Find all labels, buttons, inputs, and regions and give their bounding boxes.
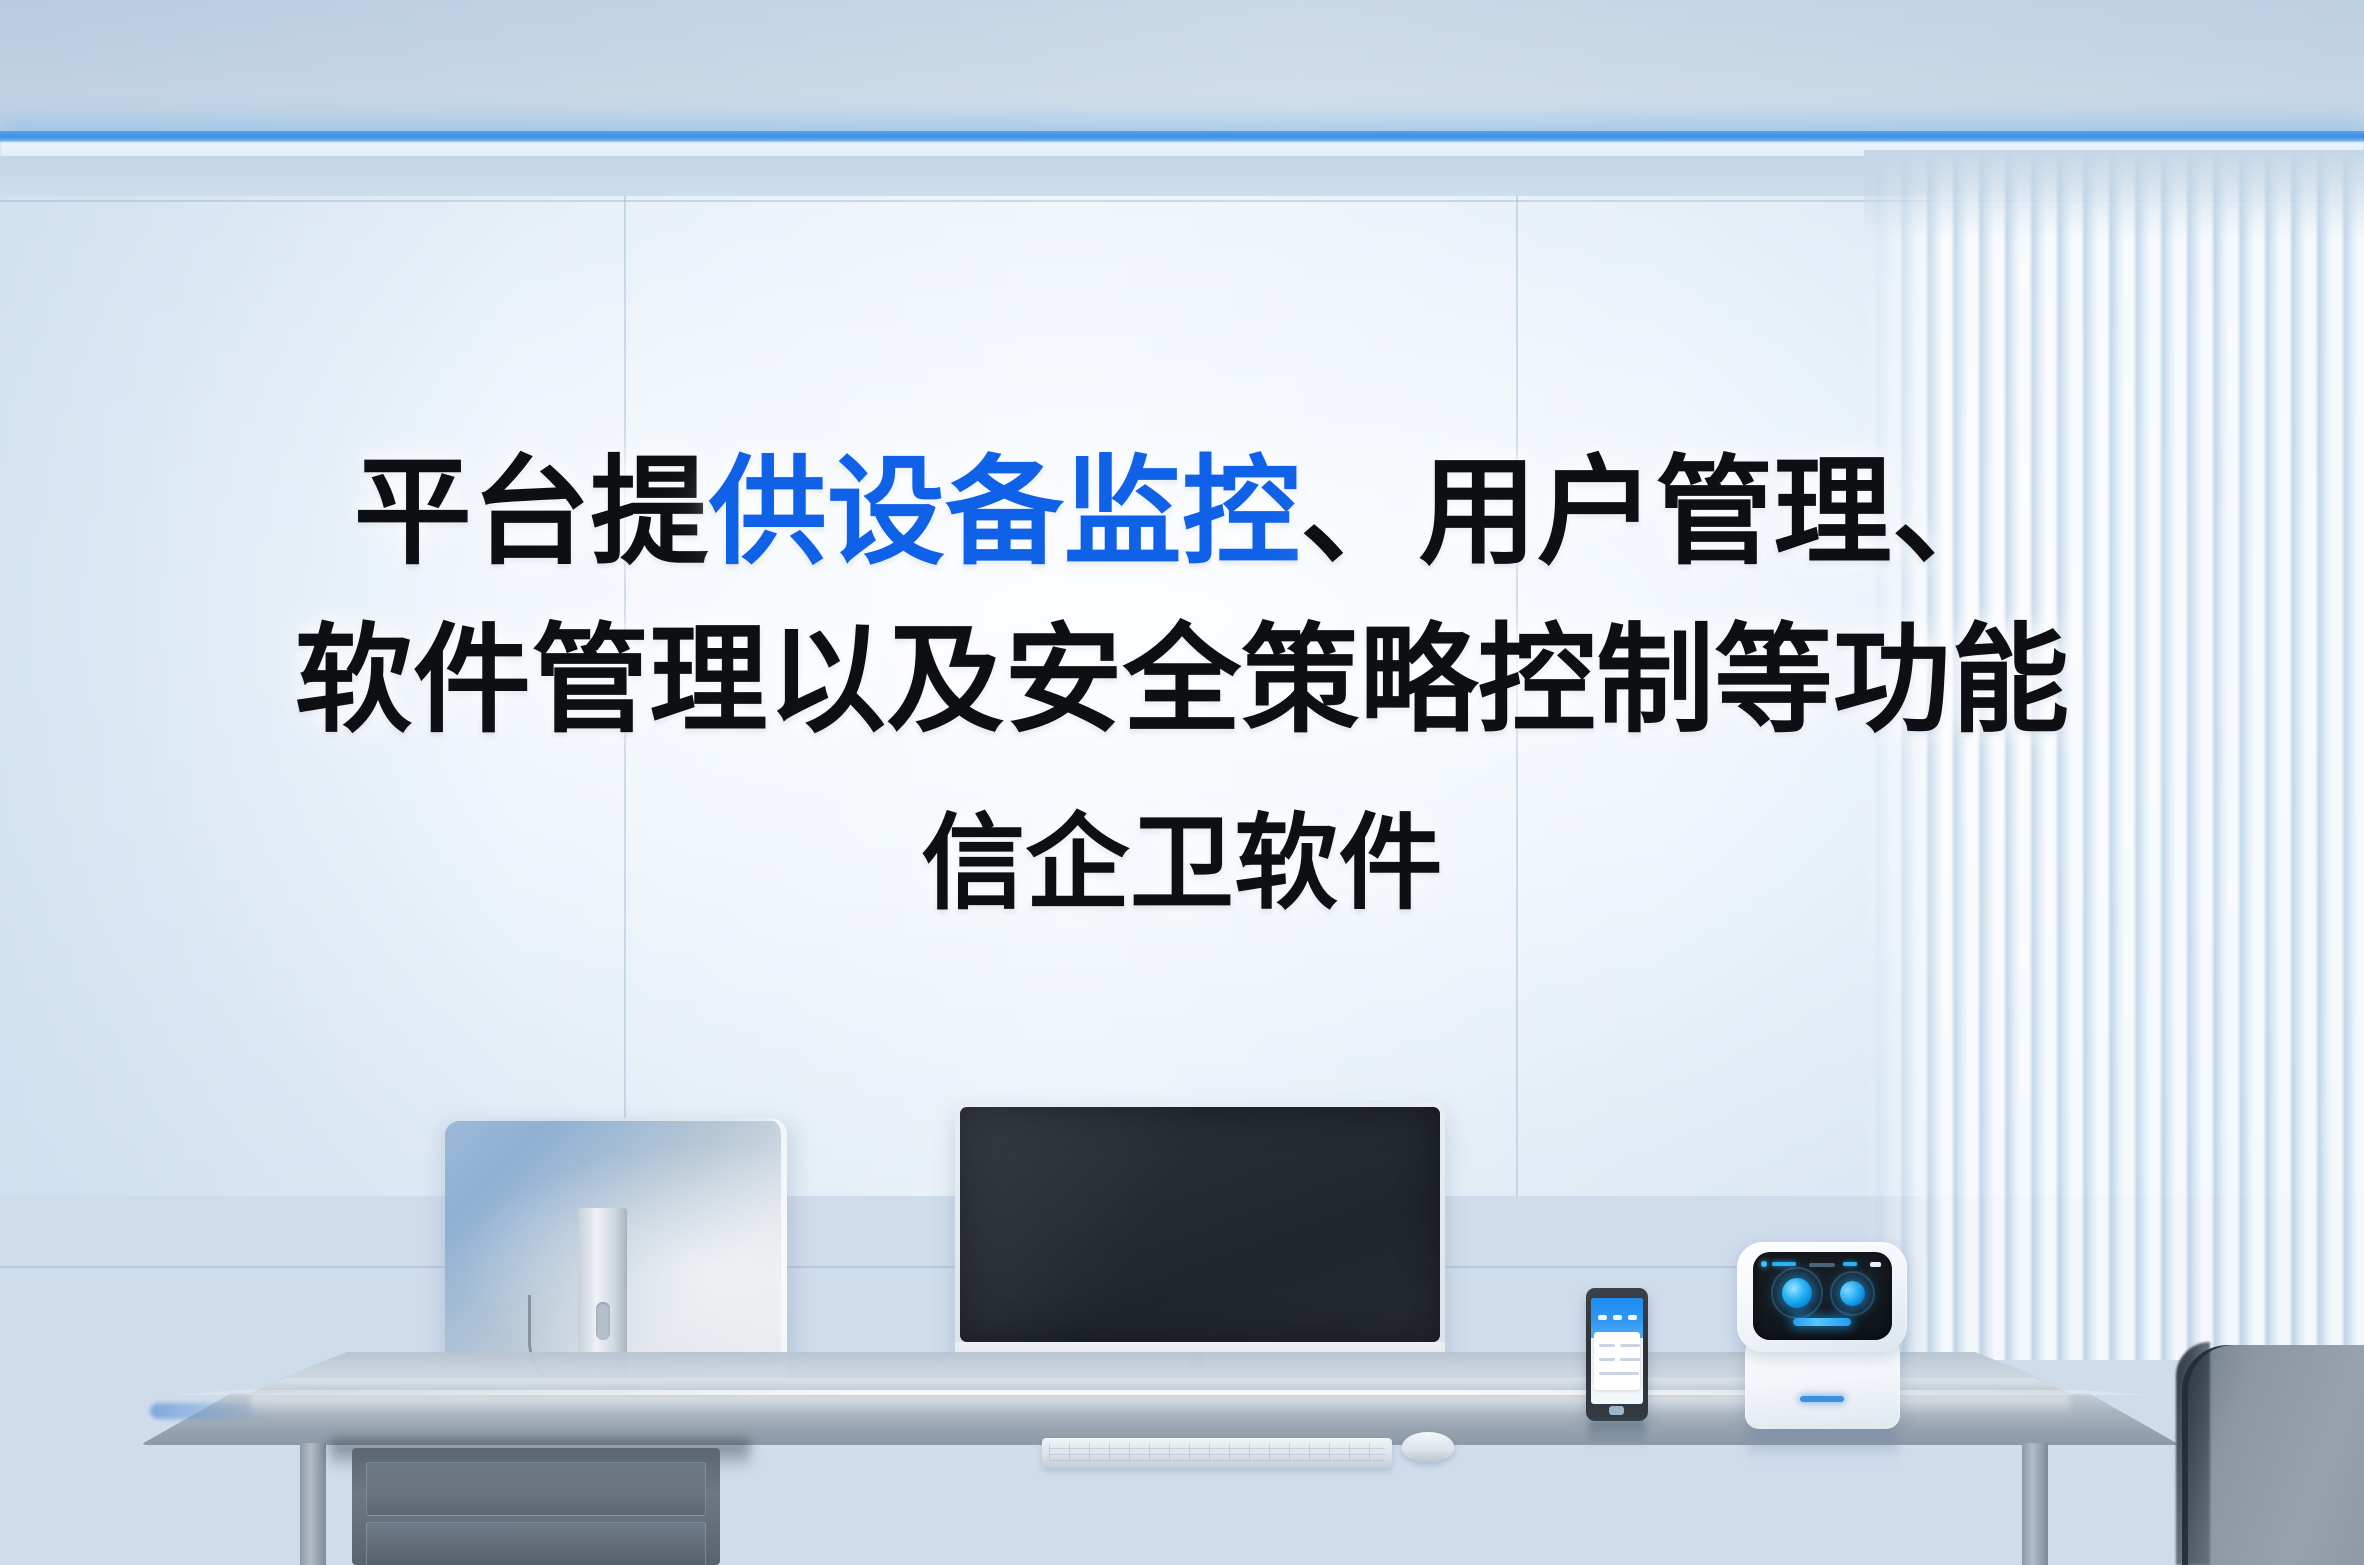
desk-leg-left xyxy=(300,1443,326,1565)
smartphone-card-line-5 xyxy=(1599,1372,1639,1375)
headline-line-1: 平台提供设备监控、用户管理、 xyxy=(0,430,2364,598)
headline-block: 平台提供设备监控、用户管理、 软件管理以及安全策略控制等功能 信企卫软件 xyxy=(0,430,2364,939)
smartphone-screen[interactable] xyxy=(1591,1298,1643,1404)
desk-leg-right xyxy=(2022,1443,2048,1565)
cabinet-drawer-top[interactable] xyxy=(366,1462,706,1516)
keyboard-keys xyxy=(1049,1443,1385,1461)
robot-hud-indicator-4 xyxy=(1843,1262,1857,1266)
robot-hud-indicator-2 xyxy=(1772,1262,1796,1266)
wall-seam-middle xyxy=(0,1266,1890,1268)
headline-line-3: 信企卫软件 xyxy=(0,791,2364,939)
keyboard[interactable] xyxy=(1042,1438,1392,1468)
headline-line-1-prefix: 平台提 xyxy=(354,447,709,579)
robot-hud-indicator-3 xyxy=(1809,1263,1835,1267)
robot-hud-indicator-1 xyxy=(1761,1261,1767,1267)
fluted-glass-top-fade xyxy=(1864,150,2364,240)
headline-line-1-suffix: 、用户管理、 xyxy=(1300,447,2010,579)
headline-line-1-accent: 供设备监控 xyxy=(709,447,1301,579)
robot-left-eye-icon xyxy=(1782,1278,1812,1308)
headline-line-2: 软件管理以及安全策略控制等功能 xyxy=(0,598,2364,766)
smartphone-card-line-1 xyxy=(1599,1344,1615,1347)
robot-hud-indicator-5 xyxy=(1870,1262,1881,1267)
smartphone-content-card xyxy=(1594,1332,1640,1390)
left-monitor-cable-slot xyxy=(596,1302,610,1340)
robot-status-led xyxy=(1800,1396,1844,1402)
desk-drawer-cabinet[interactable] xyxy=(352,1448,720,1565)
robot-right-eye-icon xyxy=(1840,1281,1865,1306)
robot-reflection xyxy=(1748,1428,1898,1462)
robot-mouth-icon xyxy=(1793,1318,1851,1326)
smartphone-header-dot-3 xyxy=(1628,1315,1637,1320)
ceiling xyxy=(0,0,2364,136)
smartphone-home-button[interactable] xyxy=(1609,1406,1624,1415)
smartphone-card-line-3 xyxy=(1599,1358,1615,1361)
smartphone-header-dot-1 xyxy=(1598,1315,1607,1320)
office-chair-rim xyxy=(2176,1342,2210,1565)
smartphone-card-line-4 xyxy=(1620,1358,1640,1361)
smartphone-card-line-2 xyxy=(1620,1344,1640,1347)
cabinet-drawer-bottom[interactable] xyxy=(366,1522,706,1565)
ceiling-accent-strip xyxy=(0,131,2364,142)
mouse[interactable] xyxy=(1402,1432,1454,1462)
center-computer-screen[interactable] xyxy=(960,1107,1440,1342)
smartphone-header-dot-2 xyxy=(1613,1315,1622,1320)
scene-root: 平台提供设备监控、用户管理、 软件管理以及安全策略控制等功能 信企卫软件 xyxy=(0,0,2364,1565)
smartphone-reflection xyxy=(1588,1421,1646,1447)
